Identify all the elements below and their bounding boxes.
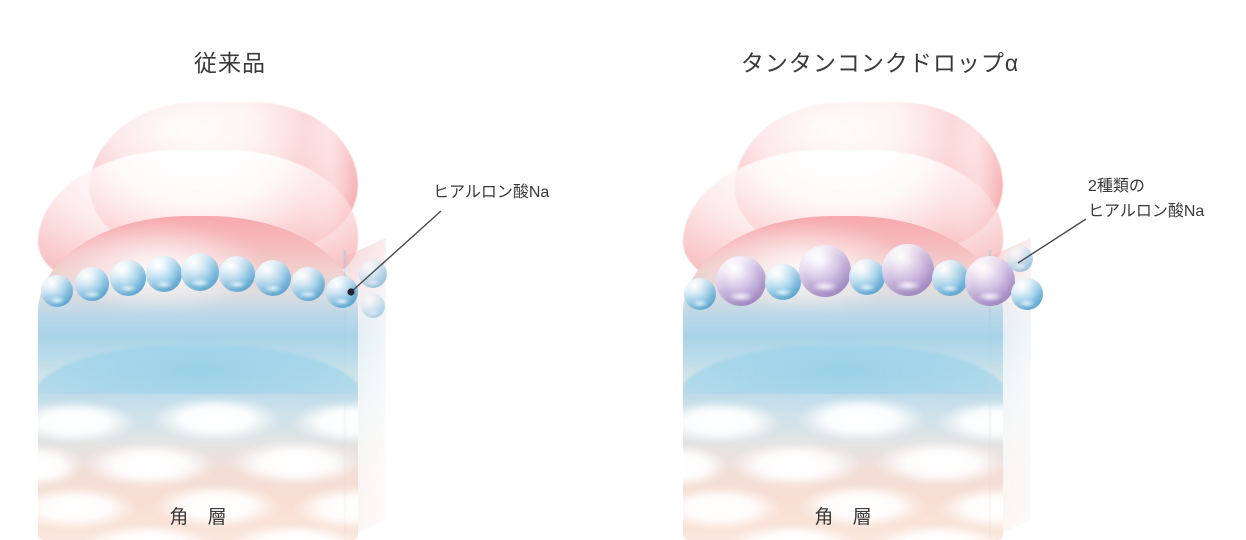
callout-line: ヒアルロン酸Na <box>1088 199 1204 224</box>
stratum-corneum-label: 角 層 <box>683 502 1003 529</box>
illustration-canvas: 従来品 <box>0 0 1246 498</box>
callout-leader-tantan <box>640 0 1246 498</box>
callout-leader-conventional <box>0 0 640 498</box>
callout-label-conventional: ヒアルロン酸Na <box>433 180 549 205</box>
callout-label-tantan: 2種類の ヒアルロン酸Na <box>1088 174 1204 224</box>
stratum-corneum-label: 角 層 <box>38 502 358 529</box>
callout-line: ヒアルロン酸Na <box>433 180 549 205</box>
callout-line: 2種類の <box>1088 174 1204 199</box>
